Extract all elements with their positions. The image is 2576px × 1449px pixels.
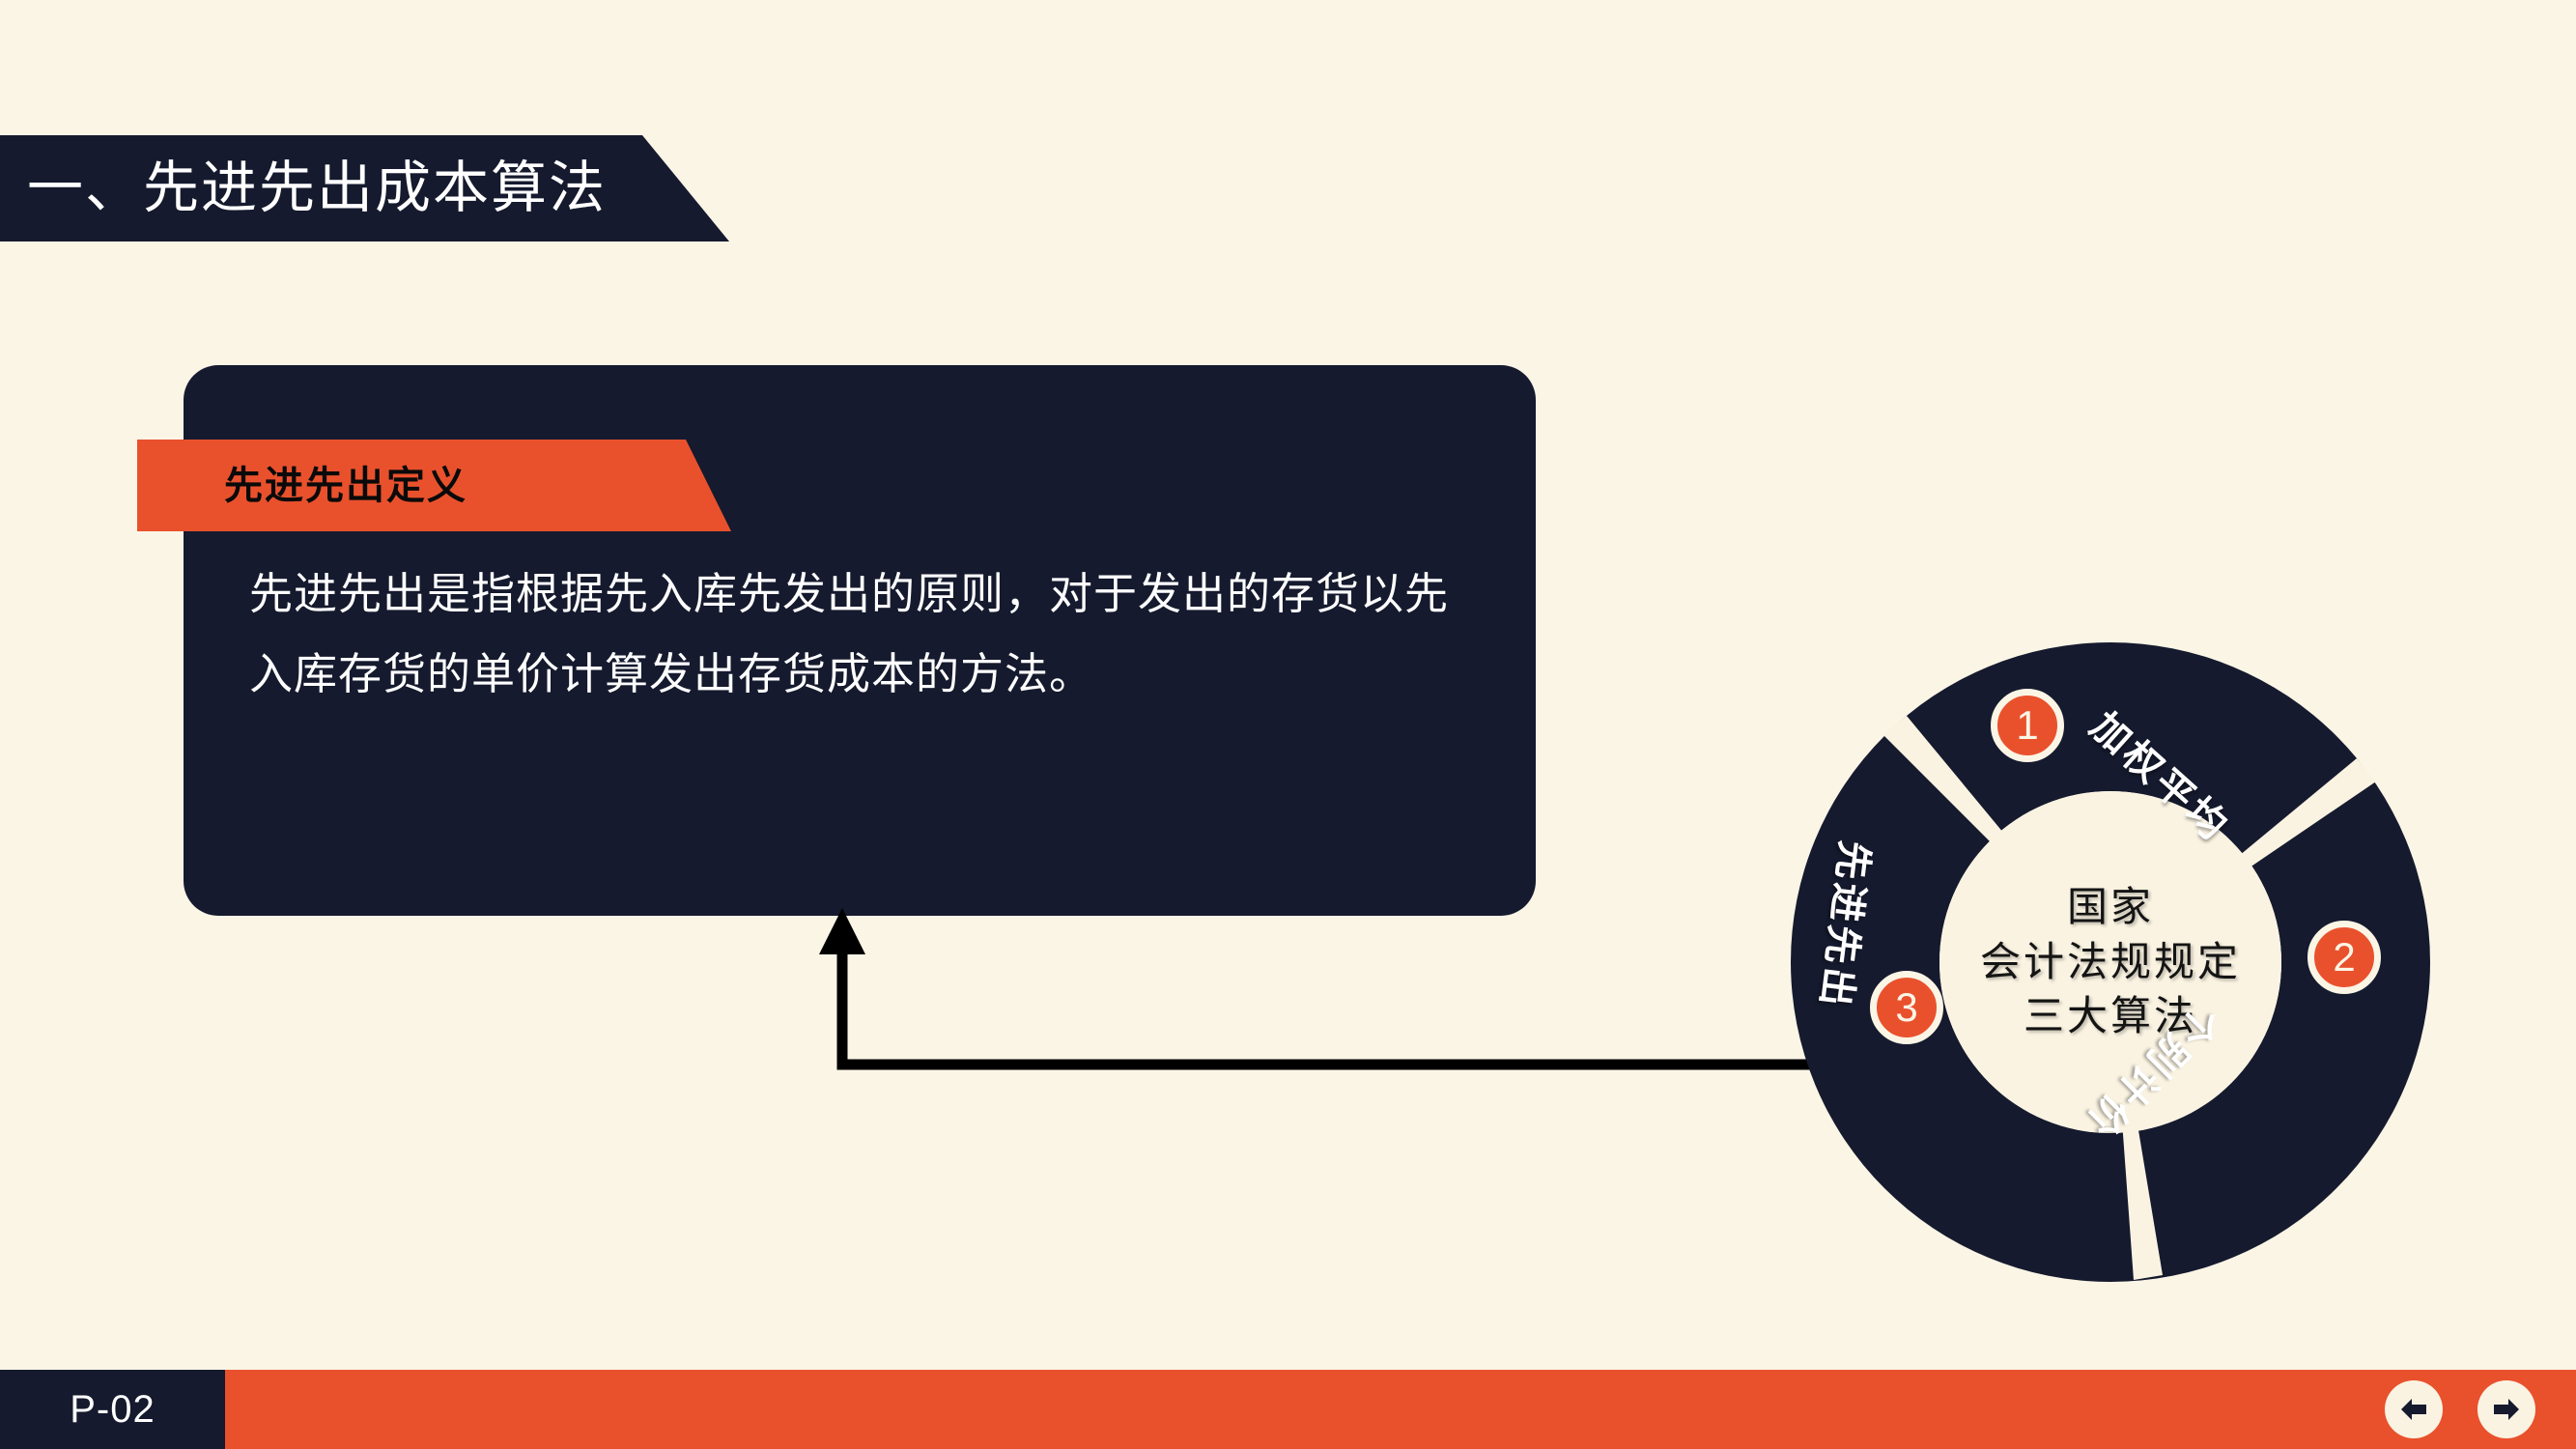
footer-bar: P-02	[0, 1370, 2576, 1449]
donut-center-line-1: 国家	[2067, 880, 2154, 935]
prev-slide-button[interactable]	[2385, 1380, 2443, 1438]
arrow-left-icon	[2397, 1393, 2430, 1426]
connector-arrow	[811, 898, 1893, 1101]
segment-number-badge-3[interactable]: 3	[1870, 971, 1943, 1044]
title-banner: 一、先进先出成本算法	[0, 135, 729, 241]
definition-body-text: 先进先出是指根据先入库先发出的原则，对于发出的存货以先入库存货的单价计算发出存货…	[249, 554, 1476, 715]
segment-number-badge-2[interactable]: 2	[2307, 921, 2381, 994]
donut-center-line-2: 会计法规规定	[1980, 935, 2241, 990]
next-slide-button[interactable]	[2477, 1380, 2535, 1438]
page-number-label: P-02	[70, 1390, 156, 1429]
page-title: 一、先进先出成本算法	[27, 160, 607, 216]
segment-number-badge-1[interactable]: 1	[1991, 689, 2064, 762]
arrow-right-icon	[2490, 1393, 2523, 1426]
definition-ribbon: 先进先出定义	[137, 440, 731, 531]
donut-diagram: 国家 会计法规规定 三大算法 加权平均 个别计价 先进先出 1 2 3	[1791, 642, 2430, 1282]
definition-ribbon-label: 先进先出定义	[224, 467, 467, 505]
slide: 一、先进先出成本算法 先进先出是指根据先入库先发出的原则，对于发出的存货以先入库…	[0, 0, 2576, 1449]
page-number-block: P-02	[0, 1370, 225, 1449]
footer-accent-bar	[0, 1370, 2576, 1449]
